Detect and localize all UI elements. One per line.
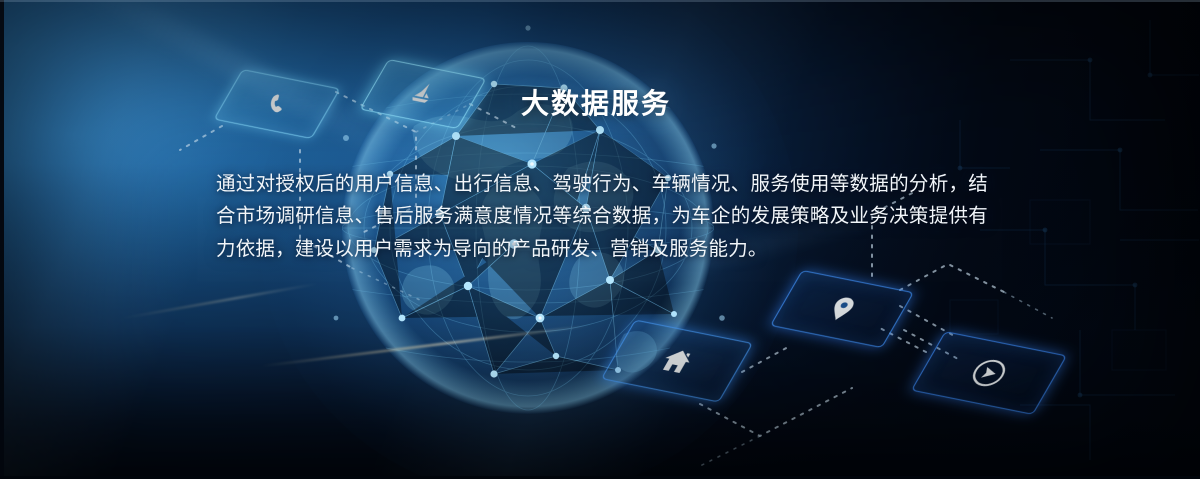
top-edge-border	[0, 0, 1200, 2]
banner-description: 通过对授权后的用户信息、出行信息、驾驶行为、车辆情况、服务使用等数据的分析，结合…	[216, 168, 988, 266]
page-title: 大数据服务	[0, 82, 1200, 122]
left-edge-border	[0, 0, 4, 479]
big-data-service-banner: 大数据服务 通过对授权后的用户信息、出行信息、驾驶行为、车辆情况、服务使用等数据…	[0, 0, 1200, 479]
